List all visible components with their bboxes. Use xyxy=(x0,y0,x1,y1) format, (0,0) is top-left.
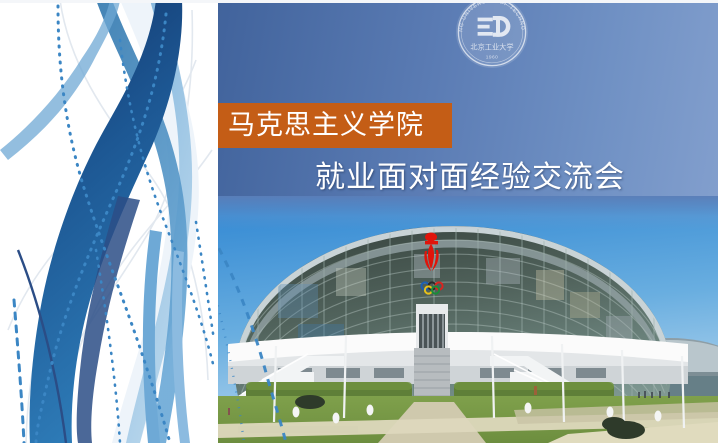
ribbon-artwork xyxy=(0,0,218,443)
slide-top-edge xyxy=(0,0,718,3)
university-logo-icon: BEIJING UNIVERSITY OF TECHNOLOGY 北京工业大学 … xyxy=(452,0,532,72)
central-entrance-stairs xyxy=(414,304,450,406)
decorative-ribbon-panel xyxy=(0,0,218,443)
presentation-slide: BEIJING UNIVERSITY OF TECHNOLOGY 北京工业大学 … xyxy=(0,0,718,443)
school-name-banner: 马克思主义学院 xyxy=(218,103,452,148)
svg-text:1960: 1960 xyxy=(486,54,499,60)
school-name-label: 马克思主义学院 xyxy=(218,112,424,139)
event-title-label: 就业面对面经验交流会 xyxy=(315,163,625,193)
title-content-panel: BEIJING UNIVERSITY OF TECHNOLOGY 北京工业大学 … xyxy=(218,0,718,443)
svg-text:北京工业大学: 北京工业大学 xyxy=(470,43,513,52)
campus-gymnasium-photo xyxy=(218,196,718,443)
